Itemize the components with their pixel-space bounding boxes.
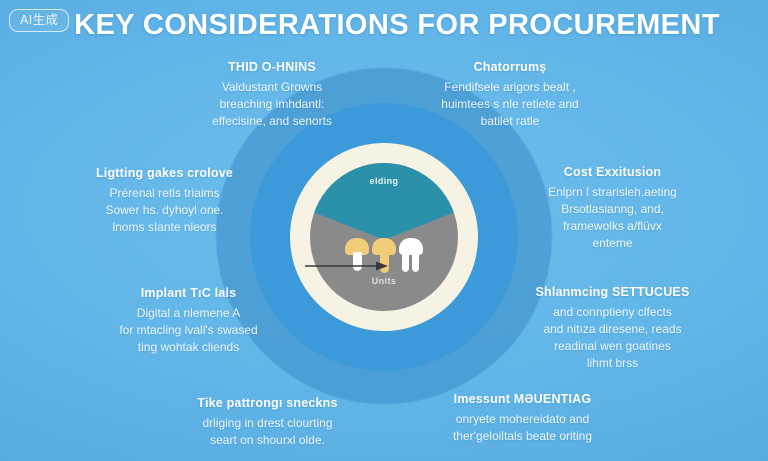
callout-line: Sower hs. dyhoyl one.	[62, 202, 267, 219]
callout-line: for mtacling lvall's swased	[86, 322, 291, 339]
callout-heading: Implant TıC lals	[86, 286, 291, 302]
callout-line: drliging in drest clourting	[160, 415, 375, 432]
callout-mid-left: Ligtting gakes crolove Prérenal retls tr…	[62, 166, 267, 236]
callout-top-right: Chatorrumş Fendifsele arigors bealt , hu…	[410, 60, 610, 130]
callout-line: Fendifsele arigors bealt ,	[410, 79, 610, 96]
callout-line: lnoms sIante nleors	[62, 219, 267, 236]
callout-line: Valdustant Growns	[182, 79, 362, 96]
callout-line: framewolks a/flüvx	[510, 218, 715, 235]
callout-line: Prérenal retls triaims	[62, 185, 267, 202]
callout-line: and nitıza diresene, reads	[505, 321, 720, 338]
callout-line: ther'geloiltals beate oriting	[400, 428, 645, 445]
callout-line: Digital a nlemene A	[86, 305, 291, 322]
callout-line: effecisine, and senorts	[182, 113, 362, 130]
callout-line: enteme	[510, 235, 715, 252]
pointer-arrow-icon	[304, 259, 390, 273]
ai-generated-badge: AI生成	[9, 9, 69, 32]
callout-heading: Shlanmcing SETTUCUES	[505, 285, 720, 301]
callout-heading: Imessunt MƏUENTIAG	[400, 392, 645, 408]
callout-low-right: Shlanmcing SETTUCUES and connptieny clfe…	[505, 285, 720, 372]
callout-heading: Chatorrumş	[410, 60, 610, 76]
infographic-poster: AI生成 KEY CONSIDERATIONS FOR PROCUREMENT …	[0, 0, 768, 461]
core-top-label: elding	[310, 176, 458, 186]
callout-line: onryete mohereidato and	[400, 411, 645, 428]
callout-line: breaching imhdantl:	[182, 96, 362, 113]
tooth-root	[412, 252, 419, 272]
center-core-circle: elding Units	[310, 163, 458, 311]
callout-heading: THID O-HNINS	[182, 60, 362, 76]
callout-line: readinal wen goatines	[505, 338, 720, 355]
tooth-root	[402, 252, 409, 272]
callout-line: huimtees s nle retiete and	[410, 96, 610, 113]
callout-line: Brsotlasianng, and,	[510, 201, 715, 218]
callout-top-left: THID O-HNINS Valdustant Growns breaching…	[182, 60, 362, 130]
callout-mid-right: Cost Exxitusion Enlprn l strarisleh.aeti…	[510, 165, 715, 252]
callout-line: batilet ratle	[410, 113, 610, 130]
page-title: KEY CONSIDERATIONS FOR PROCUREMENT	[0, 10, 768, 42]
tooth-icon-white-natural	[399, 238, 423, 272]
core-teal-wedge	[310, 163, 458, 240]
callout-line: and connptieny clfects	[505, 304, 720, 321]
callout-line: ting wohtak cliends	[86, 339, 291, 356]
callout-line: Enlprn l strarisleh.aeting	[510, 184, 715, 201]
core-bottom-label: Units	[310, 276, 458, 286]
callout-line: lihmt brss	[505, 355, 720, 372]
callout-line: seart on shourxl olde.	[160, 432, 375, 449]
callout-heading: Cost Exxitusion	[510, 165, 715, 181]
callout-bottom-left: Tike pattrongı sneckns drliging in drest…	[160, 396, 375, 449]
tooth-roots	[399, 252, 423, 272]
callout-heading: Ligtting gakes crolove	[62, 166, 267, 182]
callout-bottom-right: Imessunt MƏUENTIAG onryete mohereidato a…	[400, 392, 645, 445]
callout-heading: Tike pattrongı sneckns	[160, 396, 375, 412]
callout-low-left: Implant TıC lals Digital a nlemene A for…	[86, 286, 291, 356]
